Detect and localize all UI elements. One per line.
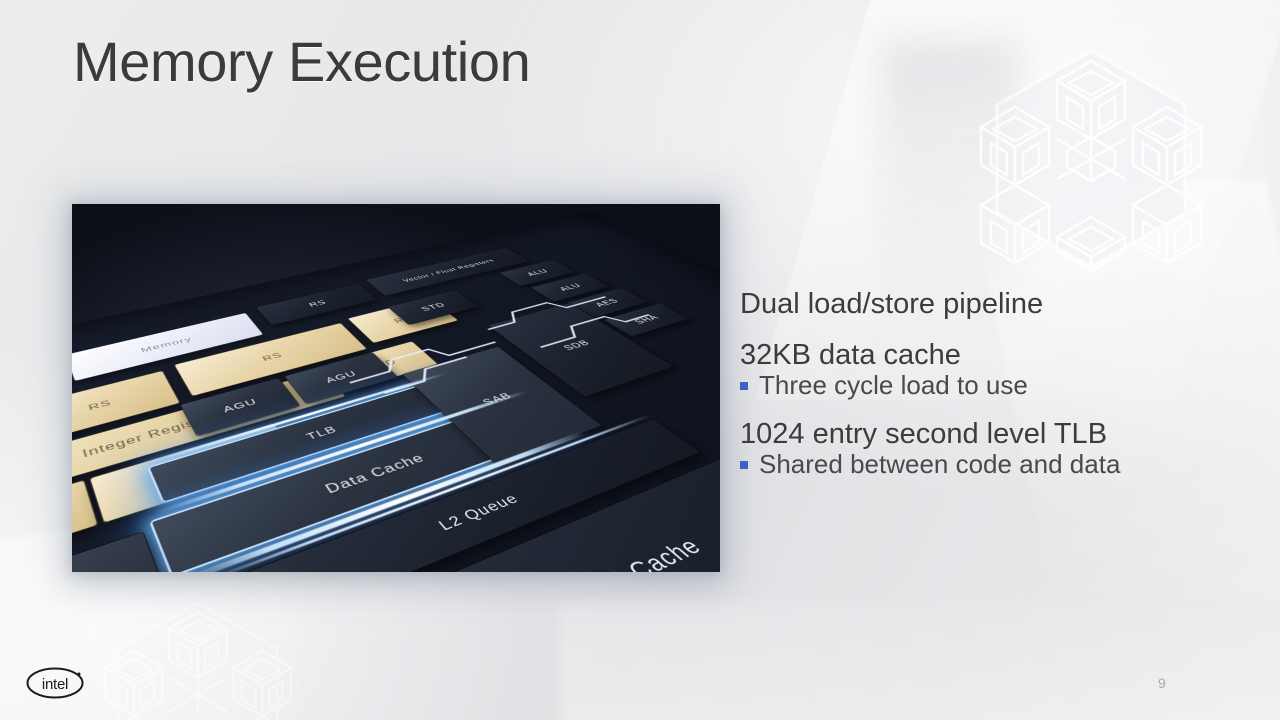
cpu-die-floorplan: Memory RS Vector / Float Registers RS RS… <box>72 228 720 572</box>
bullet-square-icon <box>740 461 748 469</box>
sub-bullet-item: Three cycle load to use <box>740 372 1240 398</box>
page-number: 9 <box>1158 675 1166 691</box>
bullet-square-icon <box>740 382 748 390</box>
slide-title: Memory Execution <box>73 29 530 94</box>
svg-text:intel: intel <box>42 676 68 693</box>
hexagon-cube-watermark-icon <box>975 45 1207 307</box>
sub-bullet-item: Shared between code and data <box>740 451 1240 477</box>
background-facet <box>560 600 1280 720</box>
slide-canvas: Memory Execution <box>0 0 1280 720</box>
sub-bullet-group: Three cycle load to use <box>740 372 1240 398</box>
cpu-die-image: Memory RS Vector / Float Registers RS RS… <box>72 204 720 572</box>
intel-logo-icon: intel <box>25 664 87 702</box>
cpu-die-scene: Memory RS Vector / Float Registers RS RS… <box>72 204 720 572</box>
hexagon-cube-watermark-icon <box>100 598 296 720</box>
sub-bullet-label: Shared between code and data <box>759 451 1120 477</box>
bullet-item: Dual load/store pipeline <box>740 290 1240 319</box>
bullet-item: 1024 entry second level TLB <box>740 420 1240 449</box>
bullet-item: 32KB data cache <box>740 341 1240 370</box>
bullet-list: Dual load/store pipeline 32KB data cache… <box>740 290 1240 499</box>
sub-bullet-label: Three cycle load to use <box>759 372 1028 398</box>
sub-bullet-group: Shared between code and data <box>740 451 1240 477</box>
